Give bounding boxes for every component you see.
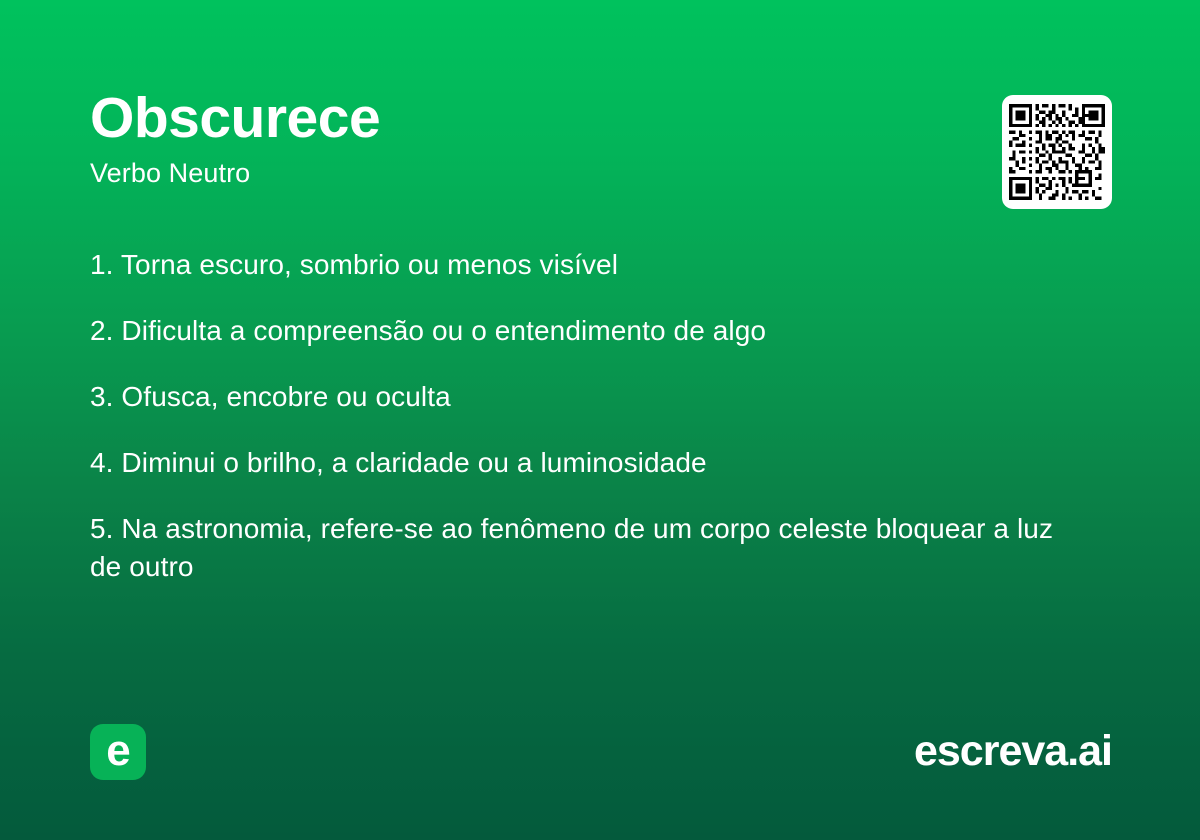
list-item: 4. Diminui o brilho, a claridade ou a lu… [90, 444, 1080, 482]
escreva-logo-icon[interactable]: e [90, 724, 146, 780]
page-title: Obscurece [90, 88, 950, 148]
word-class-label: Verbo Neutro [90, 158, 950, 188]
logo-letter: e [106, 729, 129, 773]
card-header: Obscurece Verbo Neutro [90, 88, 950, 188]
brand-wordmark: escreva.ai [914, 726, 1112, 776]
definition-list: 1. Torna escuro, sombrio ou menos visíve… [90, 246, 1080, 586]
qr-code-icon[interactable] [1002, 95, 1112, 209]
list-item: 5. Na astronomia, refere-se ao fenômeno … [90, 510, 1080, 586]
list-item: 3. Ofusca, encobre ou oculta [90, 378, 1080, 416]
dictionary-card: Obscurece Verbo Neutro [0, 0, 1200, 840]
list-item: 1. Torna escuro, sombrio ou menos visíve… [90, 246, 1080, 284]
list-item: 2. Dificulta a compreensão ou o entendim… [90, 312, 1080, 350]
